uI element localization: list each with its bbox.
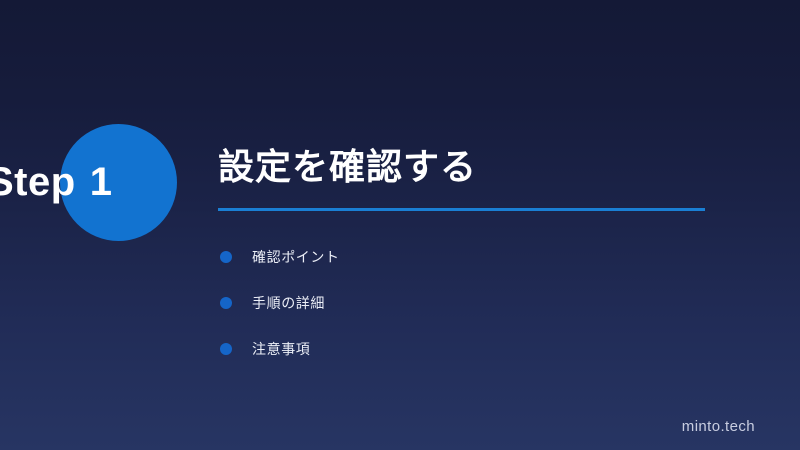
slide-content: 設定を確認する 確認ポイント 手順の詳細 注意事項: [218, 144, 718, 372]
bullet-list: 確認ポイント 手順の詳細 注意事項: [218, 234, 718, 372]
list-item: 確認ポイント: [218, 234, 718, 280]
bullet-label: 注意事項: [252, 342, 310, 356]
bullet-dot-icon: [220, 251, 232, 263]
bullet-label: 手順の詳細: [252, 296, 325, 310]
bullet-dot-icon: [220, 343, 232, 355]
slide-title: 設定を確認する: [218, 144, 718, 190]
title-divider: [218, 208, 705, 211]
step-number: 1: [90, 160, 113, 204]
footer-brand: minto.tech: [682, 418, 755, 435]
bullet-dot-icon: [220, 297, 232, 309]
bullet-label: 確認ポイント: [252, 250, 340, 264]
presentation-slide: Step1 設定を確認する 確認ポイント 手順の詳細 注意事項 minto.te…: [0, 0, 800, 450]
step-label: Step1: [0, 124, 217, 241]
step-word: Step: [0, 160, 76, 204]
list-item: 注意事項: [218, 326, 718, 372]
list-item: 手順の詳細: [218, 280, 718, 326]
